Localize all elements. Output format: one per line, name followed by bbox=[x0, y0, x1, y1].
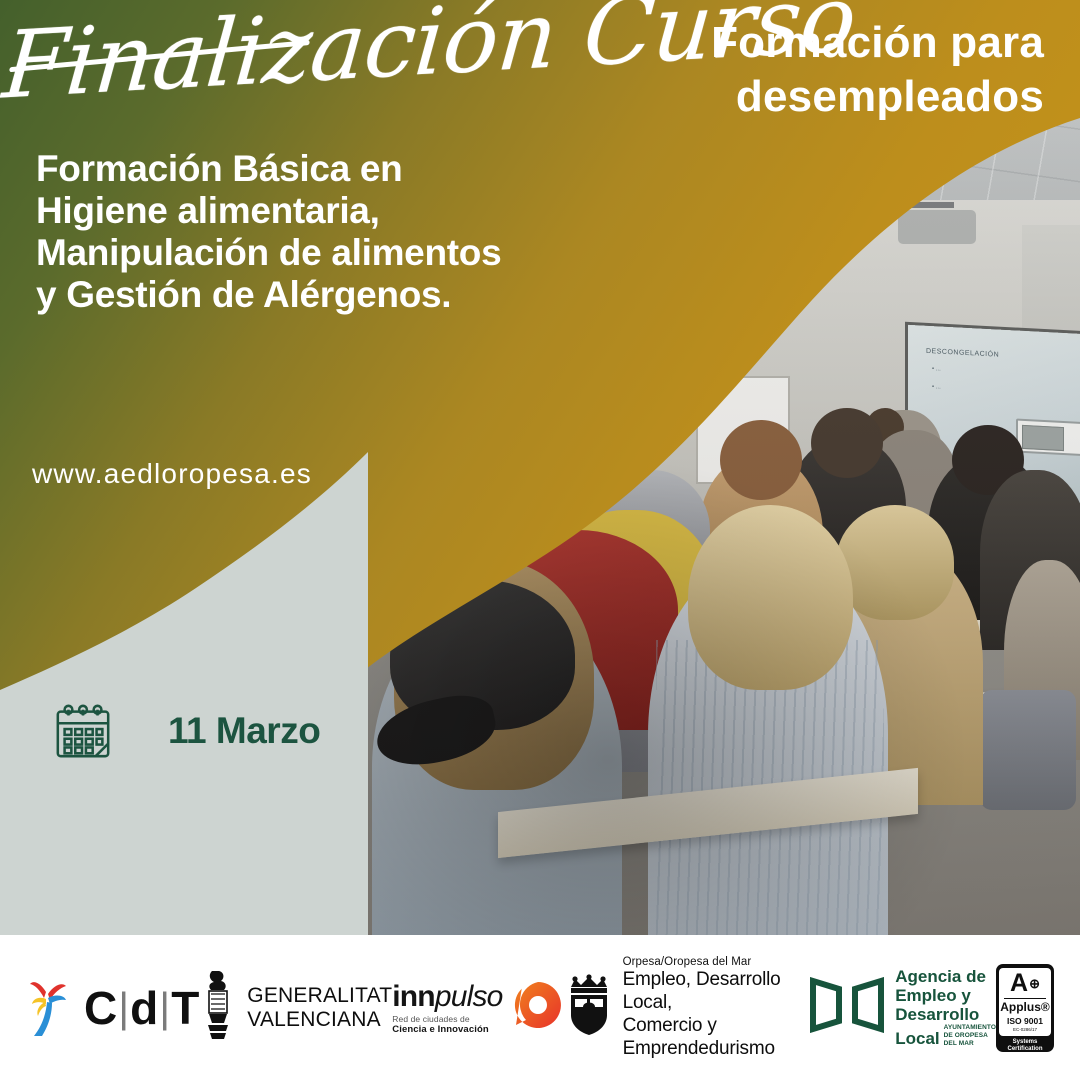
classroom-photo: DESCONGELACIÓN • ... • ... bbox=[368, 0, 1080, 935]
course-title: Formación Básica en Higiene alimentaria,… bbox=[36, 148, 506, 316]
date-text: 11 Marzo bbox=[168, 710, 320, 752]
innpulso-logo[interactable]: innpulso Red de ciudades de Ciencia e In… bbox=[392, 980, 562, 1035]
applus-systems-certification: Systems Certification bbox=[1007, 1039, 1042, 1054]
slide-bullet-1: • ... bbox=[932, 366, 941, 372]
inn-sub-1: Red de ciudades de bbox=[392, 1014, 502, 1024]
orpesa-crest-icon bbox=[563, 973, 615, 1042]
agencia-line-4: Local bbox=[895, 1029, 939, 1048]
applus-grade: A⊕ bbox=[1010, 971, 1040, 996]
cdt-logo[interactable]: C|d|T bbox=[26, 972, 198, 1043]
orpesa-line-1: Empleo, Desarrollo Local, bbox=[623, 968, 810, 1014]
agencia-tiny-2: DE OROPESA DEL MAR bbox=[944, 1032, 996, 1048]
innpulso-wordmark: innpulso Red de ciudades de Ciencia e In… bbox=[392, 980, 502, 1035]
gv-line-2: VALENCIANA bbox=[247, 1008, 392, 1032]
orpesa-wordmark: Orpesa/Oropesa del Mar Empleo, Desarroll… bbox=[623, 956, 810, 1060]
poster-canvas: DESCONGELACIÓN • ... • ... bbox=[0, 0, 1080, 1080]
date-row: 11 Marzo bbox=[52, 700, 320, 762]
inn-sub-2: Ciencia e Innovación bbox=[392, 1024, 502, 1035]
inn-italic: pulso bbox=[435, 980, 503, 1013]
attendee-head bbox=[811, 408, 883, 478]
attendee-head bbox=[688, 505, 853, 690]
agencia-line-2: Empleo y bbox=[895, 986, 996, 1005]
orpesa-line-2: Comercio y Emprendedurismo bbox=[623, 1014, 810, 1060]
applus-divider bbox=[1004, 998, 1046, 999]
applus-inner: A⊕ Applus® ISO 9001 EC-0286/17 bbox=[999, 968, 1051, 1036]
applus-brand: Applus® bbox=[1000, 1001, 1050, 1014]
agencia-tiny-1: AYUNTAMIENTO bbox=[944, 1024, 996, 1032]
slide-bullet-2: • ... bbox=[932, 384, 941, 390]
agencia-line-3: Desarrollo bbox=[895, 1005, 996, 1024]
agencia-line-1: Agencia de bbox=[895, 967, 996, 986]
attendee-head bbox=[720, 420, 802, 500]
agencia-empleo-logo[interactable]: Agencia de Empleo y Desarrollo Local AYU… bbox=[809, 967, 996, 1048]
applus-code: EC-0286/17 bbox=[1013, 1027, 1037, 1032]
coat-of-arms-icon bbox=[198, 969, 238, 1046]
orpesa-empleo-logo[interactable]: Orpesa/Oropesa del Mar Empleo, Desarroll… bbox=[563, 956, 810, 1060]
agencia-wordmark: Agencia de Empleo y Desarrollo Local AYU… bbox=[895, 967, 996, 1048]
palm-tree-icon bbox=[26, 972, 78, 1043]
inn-bold: inn bbox=[392, 980, 435, 1013]
double-bracket-icon bbox=[809, 977, 885, 1038]
agencia-tiny-block: AYUNTAMIENTO DE OROPESA DEL MAR bbox=[944, 1024, 996, 1048]
orange-ring-icon bbox=[513, 980, 563, 1035]
cdt-wordmark: C|d|T bbox=[84, 981, 198, 1035]
sponsor-footer: C|d|T GENERALITAT VALENCIANA bbox=[0, 935, 1080, 1080]
orpesa-small-line: Orpesa/Oropesa del Mar bbox=[623, 956, 810, 968]
attendee-head bbox=[836, 505, 954, 620]
website-url[interactable]: www.aedloropesa.es bbox=[32, 458, 312, 490]
calendar-icon bbox=[52, 700, 114, 762]
applus-iso-badge[interactable]: A⊕ Applus® ISO 9001 EC-0286/17 Systems C… bbox=[996, 964, 1054, 1052]
gv-line-1: GENERALITAT bbox=[247, 984, 392, 1008]
applus-iso: ISO 9001 bbox=[1007, 1016, 1043, 1026]
headline-right: Formación para desempleados bbox=[624, 16, 1044, 124]
backpack bbox=[980, 690, 1076, 810]
microwave-image bbox=[1016, 419, 1080, 457]
slide-title: DESCONGELACIÓN bbox=[926, 348, 999, 359]
generalitat-valenciana-logo[interactable]: GENERALITAT VALENCIANA bbox=[198, 969, 392, 1046]
generalitat-wordmark: GENERALITAT VALENCIANA bbox=[247, 984, 392, 1032]
projector-icon bbox=[898, 210, 976, 244]
